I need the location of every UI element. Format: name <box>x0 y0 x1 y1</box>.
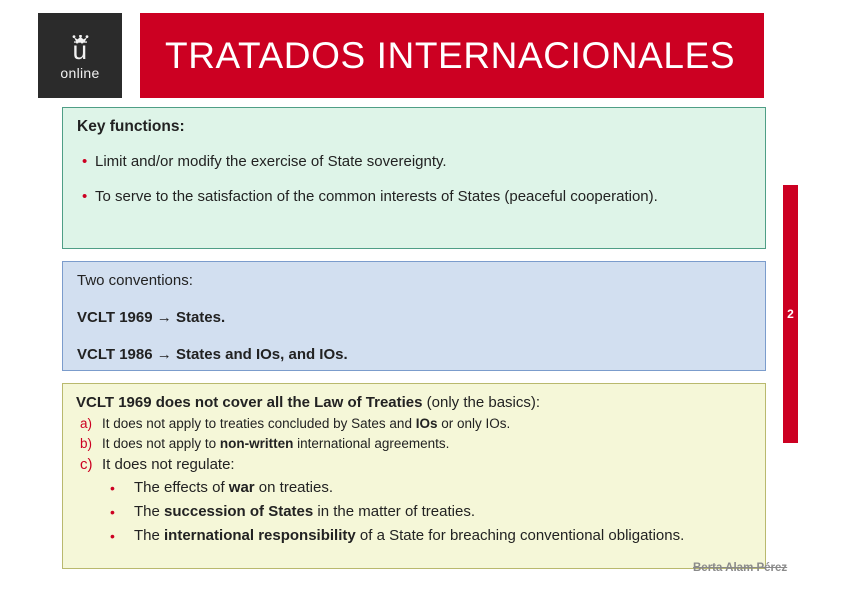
list-item: • To serve to the satisfaction of the co… <box>77 186 751 207</box>
list-item-text: To serve to the satisfaction of the comm… <box>95 186 751 207</box>
institution-logo: ü online <box>38 13 122 98</box>
list-item-text: Limit and/or modify the exercise of Stat… <box>95 151 751 172</box>
list-item-text: The international responsibility of a St… <box>134 525 752 547</box>
author-credit: Berta Alam Pérez <box>693 562 787 574</box>
list-item-text: It does not apply to treaties concluded … <box>102 414 752 433</box>
list-item: a) It does not apply to treaties conclud… <box>76 414 752 433</box>
crown-icon <box>72 30 89 37</box>
bullet-icon: • <box>110 525 134 547</box>
text-post: international agreements. <box>293 436 449 451</box>
logo-subtitle: online <box>60 65 99 81</box>
convention-value: States and IOs, and IOs. <box>176 346 348 363</box>
text-pre: It does not apply to <box>102 436 220 451</box>
text-pre: The effects of <box>134 479 229 496</box>
list-item: b) It does not apply to non-written inte… <box>76 434 752 453</box>
text-post: on treaties. <box>255 479 333 496</box>
text-post: of a State for breaching conventional ob… <box>356 527 685 544</box>
list-marker: b) <box>76 434 102 453</box>
text-emphasis: non-written <box>220 436 294 451</box>
list-item: • Limit and/or modify the exercise of St… <box>77 151 751 172</box>
text-pre: It does not apply to treaties concluded … <box>102 416 416 431</box>
key-functions-heading: Key functions: <box>77 117 751 137</box>
coverage-heading: VCLT 1969 does not cover all the Law of … <box>76 392 752 413</box>
text-emphasis: succession of States <box>164 503 313 520</box>
text-emphasis: IOs <box>416 416 438 431</box>
list-item-text: It does not regulate: <box>102 454 752 475</box>
slide-number: 2 <box>787 308 794 320</box>
conventions-box: Two conventions: VCLT 1969 → States. VCL… <box>62 261 766 371</box>
list-marker: a) <box>76 414 102 433</box>
bullet-icon: • <box>110 477 134 499</box>
coverage-box: VCLT 1969 does not cover all the Law of … <box>62 383 766 569</box>
text-pre: The <box>134 503 164 520</box>
list-item-text: The succession of States in the matter o… <box>134 501 752 523</box>
list-item: • The effects of war on treaties. <box>76 477 752 499</box>
convention-line: VCLT 1986 → States and IOs, and IOs. <box>77 345 751 365</box>
coverage-heading-bold: VCLT 1969 does not cover all the Law of … <box>76 394 423 411</box>
list-item: c) It does not regulate: <box>76 454 752 475</box>
conventions-heading: Two conventions: <box>77 271 751 291</box>
list-item: • The international responsibility of a … <box>76 525 752 547</box>
text-pre: The <box>134 527 164 544</box>
text-post: or only IOs. <box>437 416 510 431</box>
bullet-icon: • <box>77 186 95 207</box>
arrow-icon: → <box>157 309 172 326</box>
title-banner: TRATADOS INTERNACIONALES <box>140 13 764 98</box>
convention-label: VCLT 1986 <box>77 346 153 363</box>
text-emphasis: international responsibility <box>164 527 356 544</box>
coverage-heading-rest: (only the basics): <box>423 394 541 411</box>
bullet-icon: • <box>77 151 95 172</box>
convention-value: States. <box>176 309 225 326</box>
arrow-icon: → <box>157 346 172 363</box>
slide-number-bar: 2 <box>783 185 798 443</box>
text-post: in the matter of treaties. <box>313 503 475 520</box>
convention-line: VCLT 1969 → States. <box>77 308 751 328</box>
bullet-icon: • <box>110 501 134 523</box>
text-emphasis: war <box>229 479 255 496</box>
key-functions-box: Key functions: • Limit and/or modify the… <box>62 107 766 249</box>
list-item-text: The effects of war on treaties. <box>134 477 752 499</box>
list-marker: c) <box>76 454 102 475</box>
list-item: • The succession of States in the matter… <box>76 501 752 523</box>
list-item-text: It does not apply to non-written interna… <box>102 434 752 453</box>
page-title: TRATADOS INTERNACIONALES <box>140 36 735 76</box>
convention-label: VCLT 1969 <box>77 309 153 326</box>
